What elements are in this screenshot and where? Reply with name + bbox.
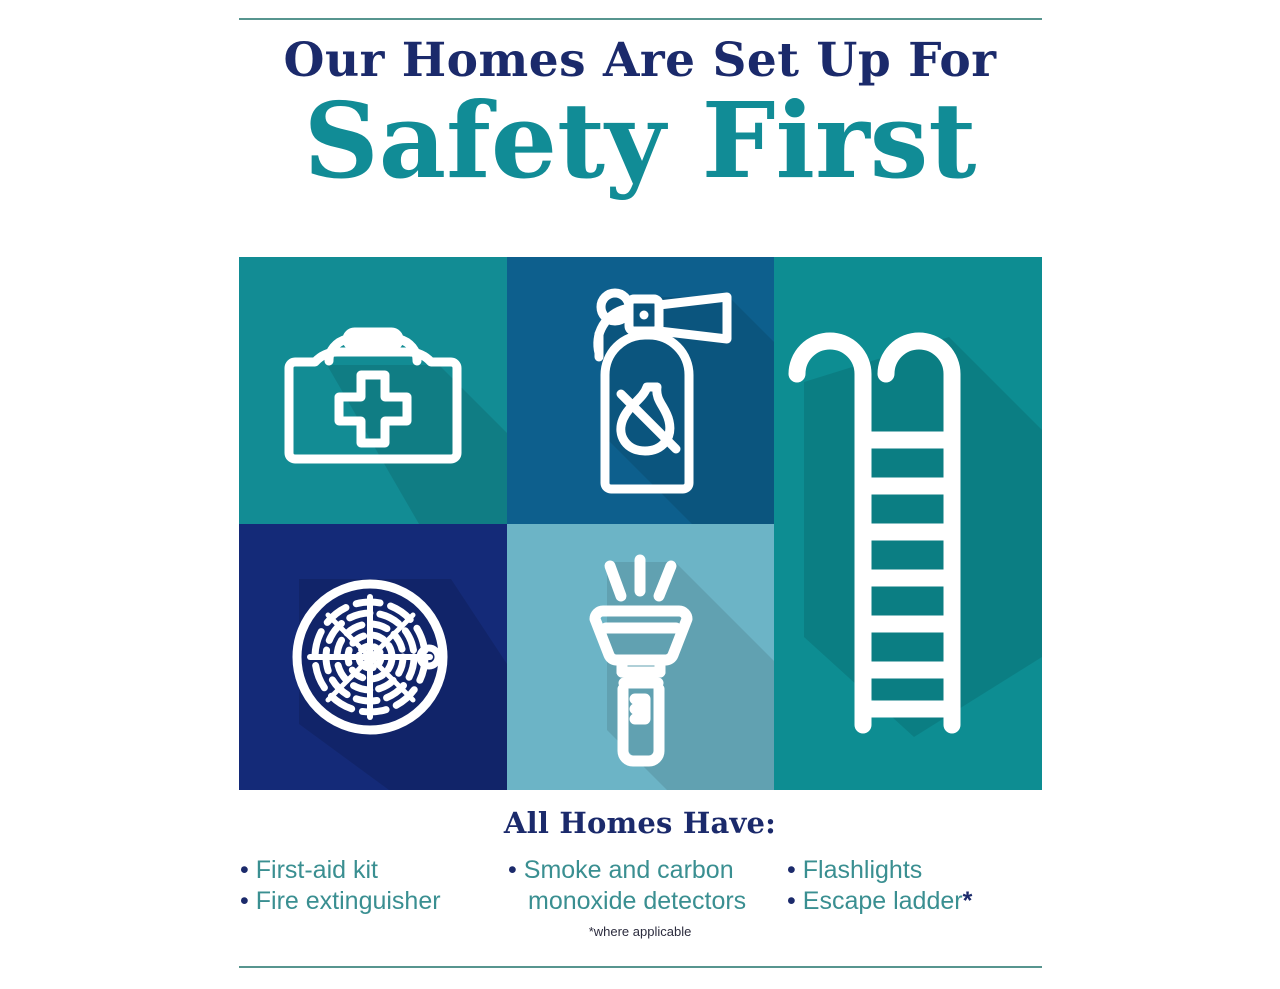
list-item: • Smoke and carbon	[508, 855, 746, 886]
headline-kicker: Our Homes Are Set Up For	[0, 36, 1280, 85]
flashlight-icon	[507, 524, 774, 790]
tile-fire-extinguisher	[507, 257, 774, 524]
bottom-divider-rule	[239, 966, 1042, 968]
icon-grid	[239, 257, 1042, 790]
list-item: • First-aid kit	[240, 855, 441, 886]
tile-flashlight	[507, 524, 774, 790]
list-item-label: Fire extinguisher	[256, 886, 441, 917]
top-divider-rule	[239, 18, 1042, 20]
tile-escape-ladder	[774, 257, 1042, 790]
footnote: *where applicable	[0, 924, 1280, 939]
bullet-icon: •	[787, 886, 796, 917]
headline: Our Homes Are Set Up For Safety First	[0, 36, 1280, 193]
list-item-label: Flashlights	[803, 855, 923, 886]
list-item-label: Escape ladder*	[803, 886, 973, 917]
bullet-icon: •	[787, 855, 796, 886]
checklist-columns: • First-aid kit • Fire extinguisher • Sm…	[239, 855, 1042, 925]
tile-smoke-detector	[239, 524, 507, 790]
bullet-icon: •	[508, 855, 517, 886]
checklist-column-2: • Smoke and carbon monoxide detectors	[508, 855, 746, 917]
checklist-column-3: • Flashlights • Escape ladder*	[787, 855, 972, 917]
tile-first-aid-kit	[239, 257, 507, 524]
first-aid-kit-icon	[239, 257, 507, 524]
ladder-icon	[774, 257, 1042, 790]
list-item: • Fire extinguisher	[240, 886, 441, 917]
bullet-icon: •	[240, 855, 249, 886]
list-item: • Escape ladder*	[787, 886, 972, 917]
all-homes-have-heading: All Homes Have:	[0, 806, 1280, 840]
fire-extinguisher-icon	[507, 257, 774, 524]
list-item-label: First-aid kit	[256, 855, 378, 886]
headline-main: Safety First	[0, 89, 1280, 193]
list-item: • Flashlights	[787, 855, 972, 886]
list-item-label-continued: monoxide detectors	[508, 886, 746, 917]
safety-first-poster: Our Homes Are Set Up For Safety First	[0, 0, 1280, 989]
list-item-label: Smoke and carbon	[524, 855, 734, 886]
checklist-column-1: • First-aid kit • Fire extinguisher	[240, 855, 441, 917]
smoke-detector-icon	[239, 524, 507, 790]
footnote-marker: *	[963, 887, 973, 915]
bullet-icon: •	[240, 886, 249, 917]
